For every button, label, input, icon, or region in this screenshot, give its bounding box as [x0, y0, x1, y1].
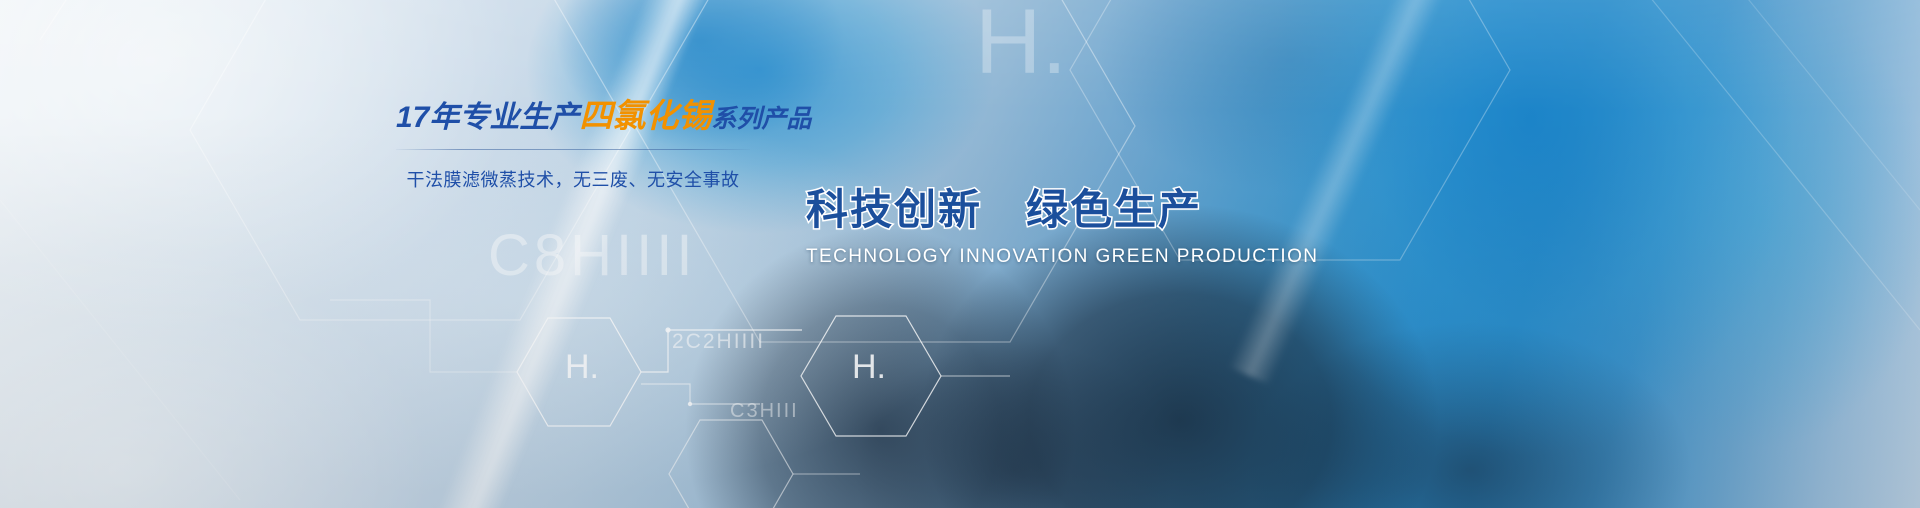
slogan-chinese: 科技创新 绿色生产 [806, 186, 1318, 233]
hero-banner: C8HIIII 2C2HIIII C3HIII H. H. H. 17年专业生产… [0, 0, 1920, 508]
slogan-english: TECHNOLOGY INNOVATION GREEN PRODUCTION [806, 246, 1318, 268]
left-text-block: 17年专业生产四氯化锡系列产品 干法膜滤微蒸技术，无三废、无安全事故 [396, 99, 756, 192]
headline-divider [396, 149, 750, 150]
banner-subline: 干法膜滤微蒸技术，无三废、无安全事故 [396, 166, 750, 192]
headline-prefix: 17年专业生产 [396, 101, 579, 134]
banner-headline: 17年专业生产四氯化锡系列产品 [396, 99, 756, 133]
headline-highlight: 四氯化锡 [579, 97, 711, 134]
headline-suffix: 系列产品 [711, 105, 811, 133]
right-text-block: 科技创新 绿色生产 TECHNOLOGY INNOVATION GREEN PR… [806, 186, 1318, 268]
